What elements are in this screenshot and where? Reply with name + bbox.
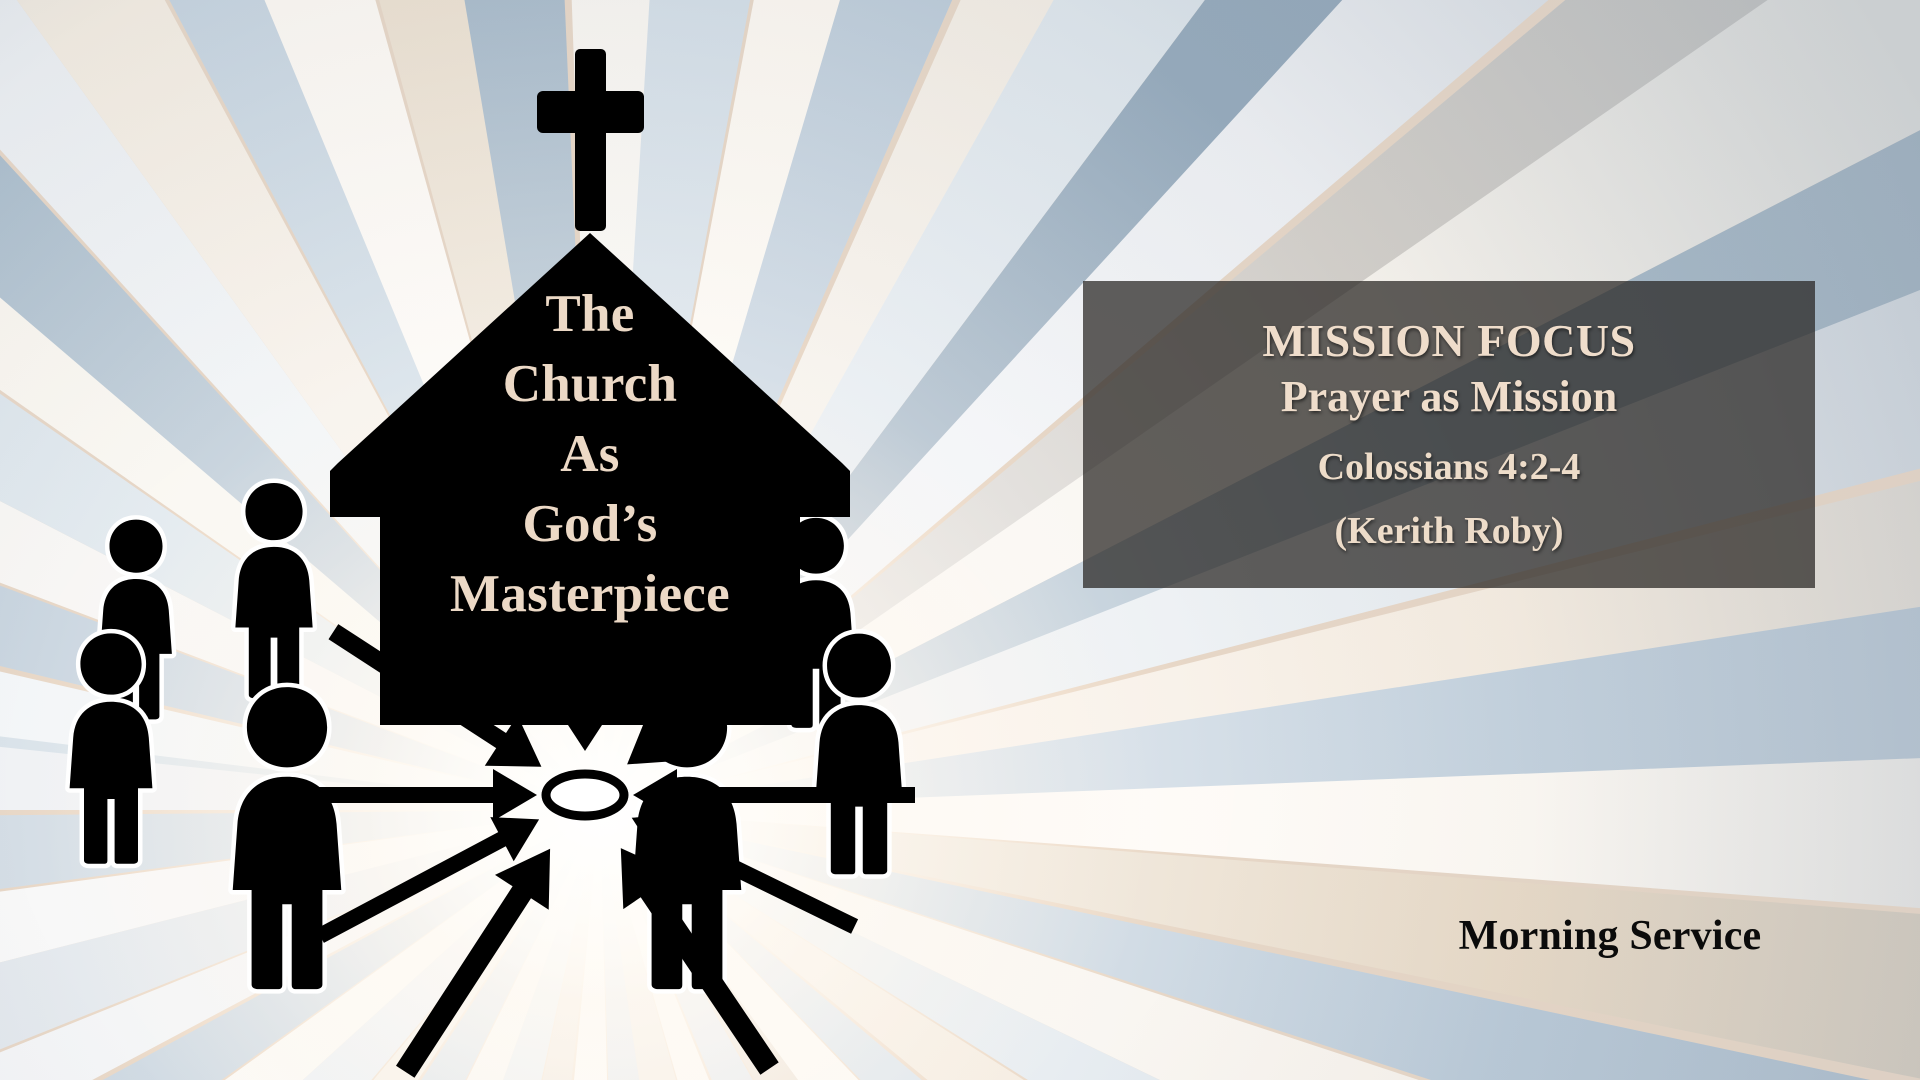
church-building-silhouette: [330, 225, 850, 725]
sermon-subject: Prayer as Mission: [1113, 372, 1785, 421]
presentation-slide: The Church As God’s Masterpiece MISSION …: [0, 0, 1920, 1080]
mission-focus-heading: MISSION FOCUS: [1113, 317, 1785, 366]
person-silhouette: [633, 687, 742, 989]
mission-focus-panel: MISSION FOCUS Prayer as Mission Colossia…: [1083, 281, 1815, 588]
person-silhouette: [233, 687, 342, 989]
church-graphic: The Church As God’s Masterpiece: [330, 45, 850, 685]
speaker-name: (Kerith Roby): [1113, 511, 1785, 553]
cross-icon: [525, 45, 655, 235]
person-silhouette: [235, 483, 312, 698]
person-silhouette: [70, 633, 153, 863]
service-time-label: Morning Service: [1420, 912, 1800, 960]
scripture-reference: Colossians 4:2-4: [1113, 447, 1785, 489]
